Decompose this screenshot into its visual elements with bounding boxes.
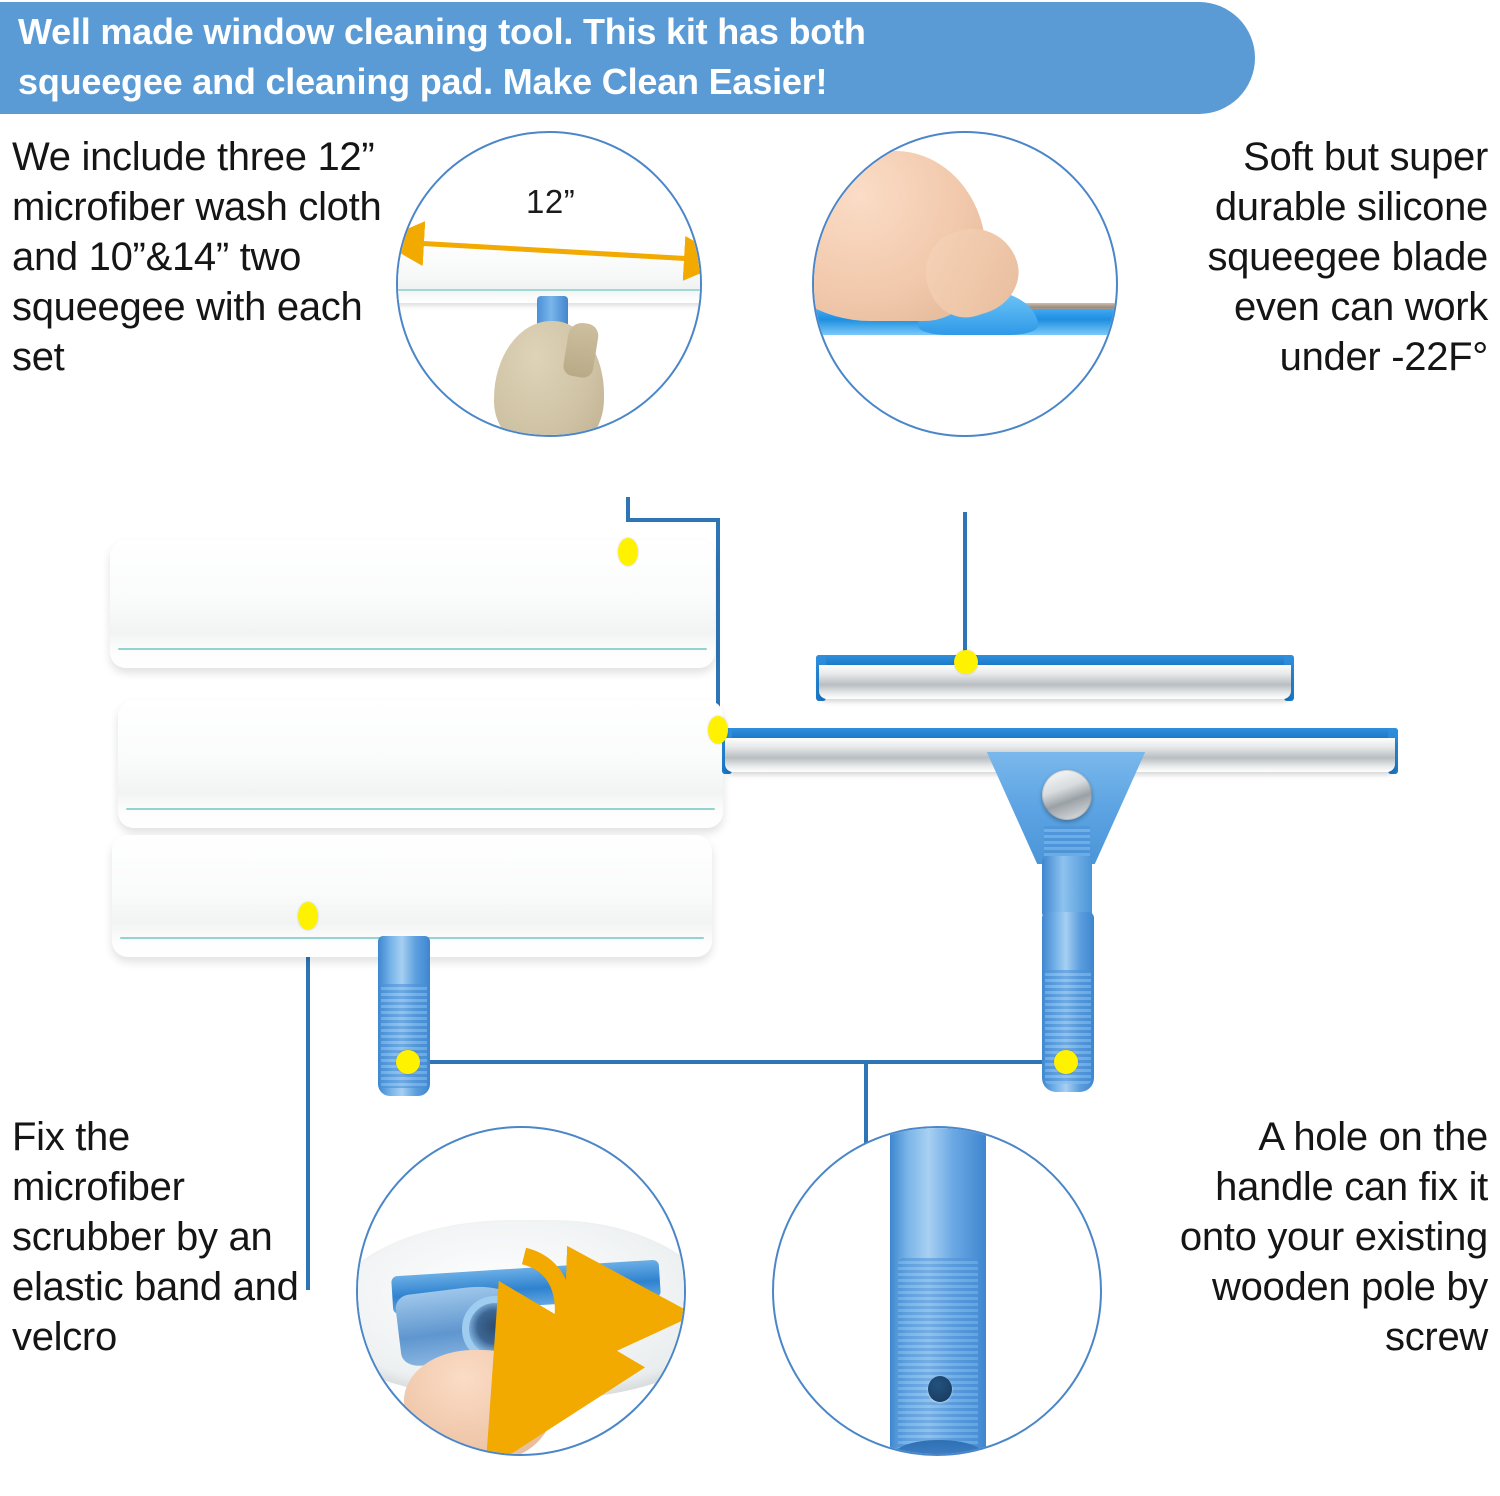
squeegee-lock-knob [1042, 770, 1092, 820]
marker-dot-short-squeegee [954, 650, 978, 674]
inset-grip-ribs [898, 1258, 978, 1456]
dimension-arrow-12in [398, 133, 702, 437]
marker-dot-long-squeegee [708, 716, 728, 744]
photo-inset-bottom-right [772, 1126, 1102, 1456]
inset-screw-hole [928, 1376, 952, 1402]
marker-dot-spare-handle [396, 1050, 420, 1074]
marker-dot-pad3 [298, 902, 318, 930]
marker-dot-pad1 [618, 538, 638, 566]
squeegee-blade-short [816, 655, 1294, 701]
squeegee-head-ribs [1044, 826, 1090, 858]
marker-dot-squeegee-handle [1054, 1050, 1078, 1074]
dimension-label: 12” [526, 183, 575, 221]
infographic-canvas: Well made window cleaning tool. This kit… [0, 0, 1500, 1496]
microfiber-pad-2 [118, 700, 723, 828]
aluminum-channel [819, 665, 1291, 699]
photo-inset-bottom-left [356, 1126, 686, 1456]
assembly-arrows [358, 1128, 686, 1456]
squeegee-neck [1042, 856, 1092, 918]
photo-inset-top-right [812, 131, 1118, 437]
photo-inset-top-left: 12” [396, 131, 702, 437]
